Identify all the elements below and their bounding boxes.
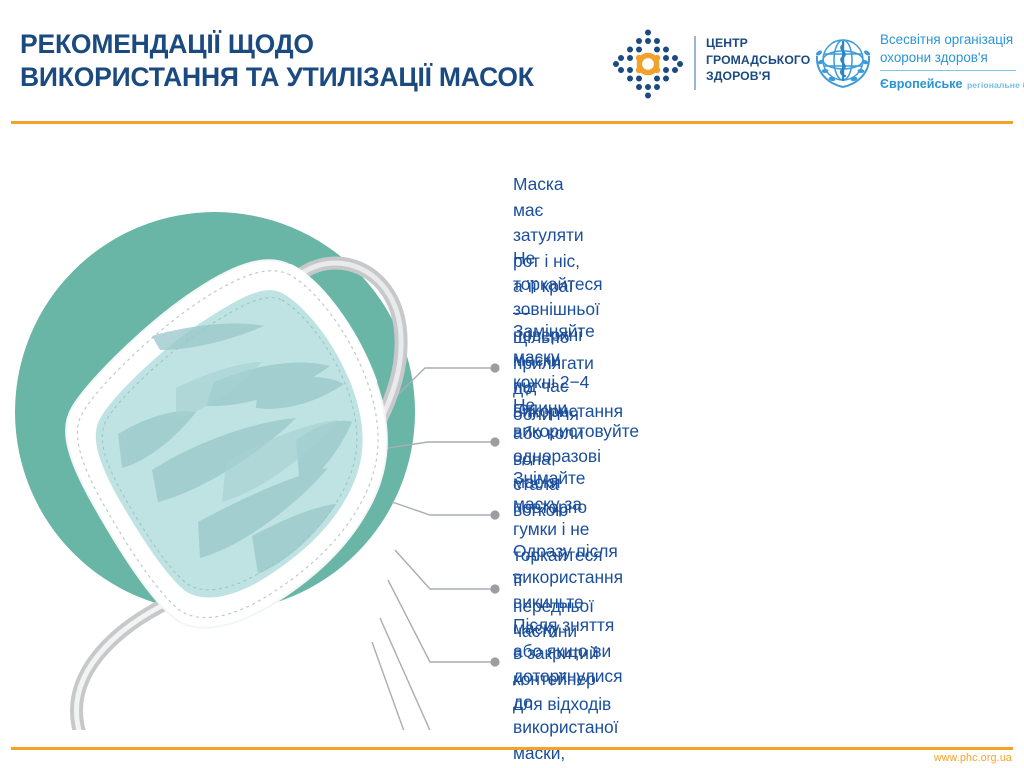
who-logo-text: Всесвітня організація охорони здоров'я bbox=[880, 31, 1013, 66]
surgical-mask-illustration bbox=[0, 150, 500, 730]
cph-logo-text: ЦЕНТР ГРОМАДСЬКОГО ЗДОРОВ'Я bbox=[706, 35, 810, 85]
who-logo-divider bbox=[880, 70, 1016, 71]
who-logo-subtitle: Європейське регіональне бюро bbox=[880, 75, 1024, 93]
footer-website-url[interactable]: www.phc.org.ua bbox=[934, 752, 1012, 764]
header-divider-rule bbox=[11, 121, 1013, 124]
cph-logo: ЦЕНТР ГРОМАДСЬКОГО ЗДОРОВ'Я bbox=[612, 26, 807, 102]
who-regional-label: Європейське bbox=[880, 77, 963, 91]
logo-divider bbox=[694, 36, 696, 90]
ear-loop-lower-highlight bbox=[76, 598, 178, 730]
who-regional-office-label: регіональне бюро bbox=[967, 80, 1024, 90]
leader-dots bbox=[490, 363, 499, 730]
who-emblem-icon bbox=[812, 31, 874, 93]
page-title: РЕКОМЕНДАЦІЇ ЩОДО ВИКОРИСТАННЯ ТА УТИЛІЗ… bbox=[20, 28, 600, 94]
footer-divider-rule bbox=[11, 747, 1013, 750]
header: РЕКОМЕНДАЦІЇ ЩОДО ВИКОРИСТАННЯ ТА УТИЛІЗ… bbox=[0, 0, 1024, 122]
who-logo: Всесвітня організація охорони здоров'я Є… bbox=[812, 28, 1016, 102]
infographic-page: РЕКОМЕНДАЦІЇ ЩОДО ВИКОРИСТАННЯ ТА УТИЛІЗ… bbox=[0, 0, 1024, 768]
cph-dot-diamond-logo-icon bbox=[612, 28, 684, 100]
recommendation-text: Після зняття або якщо ви доторкнулися до… bbox=[513, 613, 622, 768]
